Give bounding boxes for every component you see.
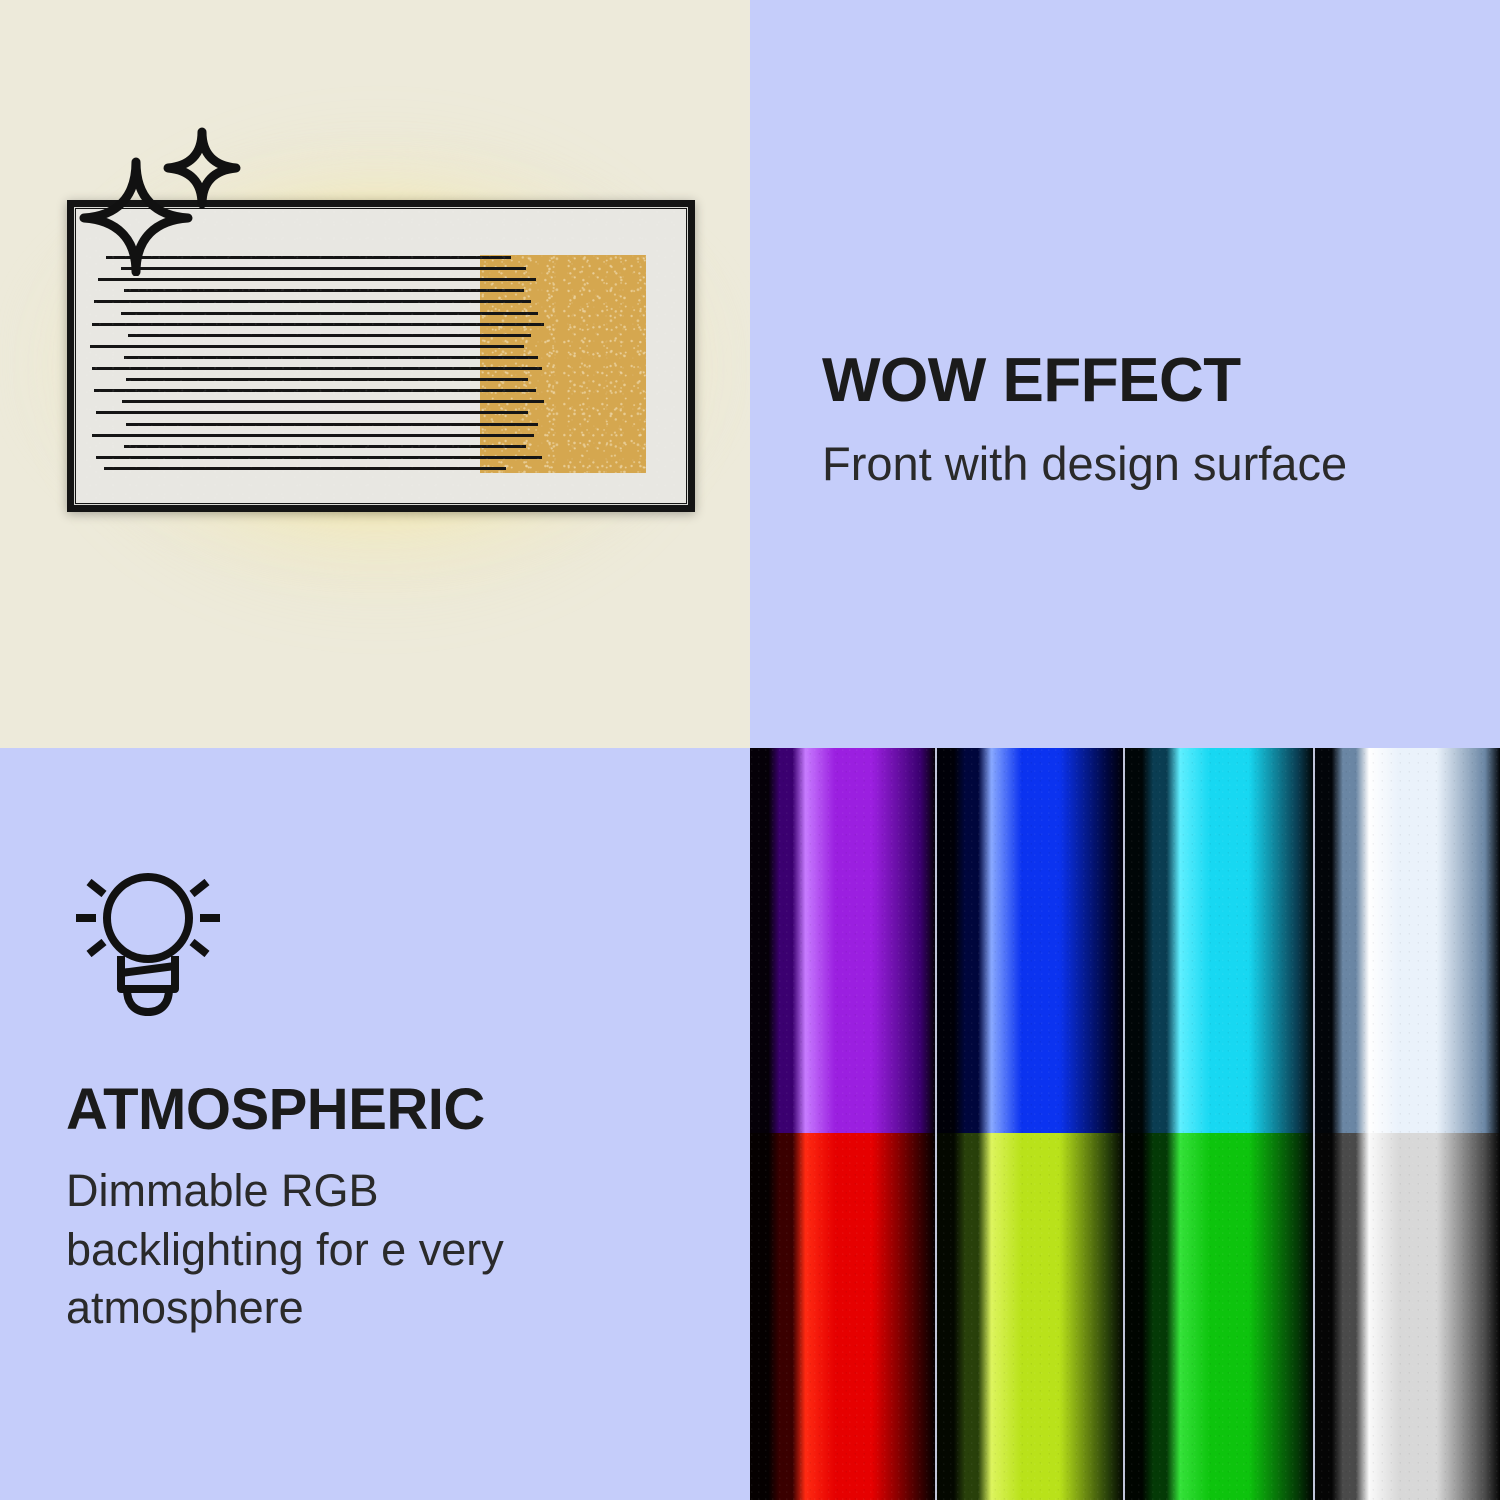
rgb-panel-cyan[interactable]	[1123, 748, 1313, 1133]
artwork-line	[126, 378, 528, 381]
artwork-line	[90, 345, 524, 348]
panel-divider	[935, 748, 937, 1133]
artwork-line	[94, 300, 531, 303]
panel-noise-overlay	[1313, 748, 1500, 1133]
artwork-line	[121, 312, 538, 315]
product-feature-collage: WOW EFFECT Front with design surface ATM…	[0, 0, 1500, 1500]
panel-noise-overlay	[935, 1133, 1123, 1500]
artwork-line	[124, 445, 526, 448]
rgb-panel-violet[interactable]	[750, 748, 935, 1133]
artwork-line	[96, 456, 542, 459]
atmospheric-headline: ATMOSPHERIC	[66, 1080, 485, 1141]
sparkle-icon	[78, 126, 248, 281]
rgb-panel-lime[interactable]	[935, 1133, 1123, 1500]
rgb-color-panel-grid	[750, 748, 1500, 1500]
artwork-line	[124, 289, 524, 292]
atmospheric-subline: Dimmable RGB backlighting for e very atm…	[66, 1162, 626, 1338]
artwork-line	[124, 356, 538, 359]
rgb-panel-green[interactable]	[1123, 1133, 1313, 1500]
artwork-line	[92, 323, 544, 326]
panel-noise-overlay	[750, 748, 935, 1133]
panel-noise-overlay	[935, 748, 1123, 1133]
panel-divider	[1313, 748, 1315, 1133]
artwork-line	[128, 334, 531, 337]
panel-divider	[935, 1133, 937, 1500]
panel-divider	[1123, 748, 1125, 1133]
artwork-line	[94, 389, 536, 392]
rgb-panel-warm-white[interactable]	[1313, 1133, 1500, 1500]
panel-noise-overlay	[1313, 1133, 1500, 1500]
artwork-line	[126, 423, 538, 426]
rgb-panel-blue[interactable]	[935, 748, 1123, 1133]
panel-divider	[1123, 1133, 1125, 1500]
panel-noise-overlay	[750, 1133, 935, 1500]
artwork-line	[104, 467, 506, 470]
wow-effect-subline: Front with design surface	[822, 438, 1347, 490]
panel-noise-overlay	[1123, 1133, 1313, 1500]
artwork-line	[96, 411, 528, 414]
artwork-line	[122, 400, 544, 403]
artwork-line	[92, 434, 534, 437]
rgb-panel-red[interactable]	[750, 1133, 935, 1500]
lightbulb-icon	[60, 856, 236, 1021]
panel-divider	[1313, 1133, 1315, 1500]
quadrant-product-photo	[0, 0, 750, 748]
panel-noise-overlay	[1123, 748, 1313, 1133]
artwork-line	[92, 367, 542, 370]
rgb-panel-cool-white[interactable]	[1313, 748, 1500, 1133]
wow-effect-headline: WOW EFFECT	[822, 348, 1241, 413]
